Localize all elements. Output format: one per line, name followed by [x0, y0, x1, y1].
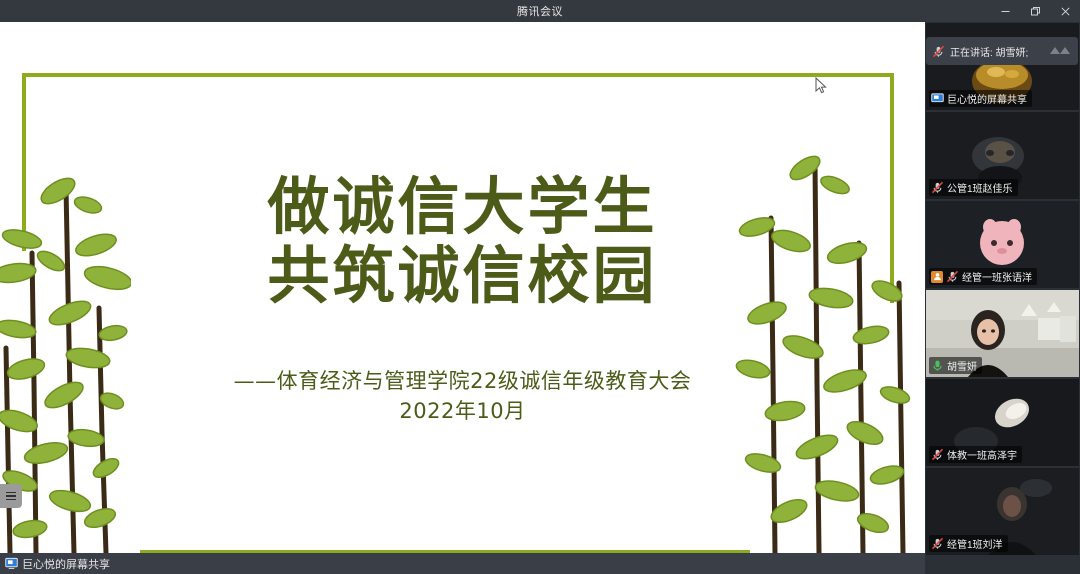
host-badge [931, 271, 943, 283]
window-controls [990, 0, 1080, 22]
shared-screen-stage: 做诚信大学生 共筑诚信校园 ——体育经济与管理学院22级诚信年级教育大会 202… [0, 22, 925, 553]
minimize-icon[interactable] [990, 0, 1020, 22]
presentation-slide: 做诚信大学生 共筑诚信校园 ——体育经济与管理学院22级诚信年级教育大会 202… [0, 22, 925, 553]
slide-subtitle: ——体育经济与管理学院22级诚信年级教育大会 2022年10月 [0, 366, 925, 427]
participant-tile[interactable]: 经管1班刘洋 [926, 468, 1079, 555]
participant-nameplate: 经管一班张语洋 [929, 268, 1037, 285]
participant-tile[interactable]: 公管1班赵佳乐 [926, 112, 1079, 199]
participant-strip[interactable]: 巨心悦的屏幕共享 公管1班赵佳乐 [925, 22, 1080, 574]
slide-title-line2: 共筑诚信校园 [0, 241, 925, 310]
mic-muted-icon [931, 181, 944, 194]
close-icon[interactable] [1050, 0, 1080, 22]
mic-muted-icon [946, 270, 959, 283]
participant-tile-active-speaker[interactable]: 胡雪妍 [926, 290, 1079, 377]
participant-name: 体教一班高泽宇 [947, 447, 1017, 462]
mouse-cursor-icon [815, 77, 827, 95]
mic-muted-icon [932, 45, 945, 58]
mic-muted-icon [931, 448, 944, 461]
participant-name: 公管1班赵佳乐 [947, 180, 1013, 195]
speaking-toast: 正在讲话: 胡雪妍; [926, 37, 1078, 65]
frame-line-top [22, 73, 894, 77]
screen-share-label: 巨心悦的屏幕共享 [22, 556, 110, 572]
participant-name: 经管一班张语洋 [962, 269, 1032, 284]
restore-icon[interactable] [1020, 0, 1050, 22]
mic-active-icon [931, 359, 944, 372]
slide-title-line1: 做诚信大学生 [0, 172, 925, 241]
window-title: 腾讯会议 [517, 3, 563, 19]
person-icon [933, 272, 942, 281]
mic-muted-icon [931, 537, 944, 550]
tencent-meeting-window: 腾讯会议 [0, 0, 1080, 574]
slide-subtitle-line1: ——体育经济与管理学院22级诚信年级教育大会 [0, 366, 925, 396]
menu-lines-icon [6, 490, 16, 503]
slide-subtitle-line2: 2022年10月 [0, 396, 925, 426]
audio-wave-icon [1048, 44, 1072, 58]
participant-tile[interactable]: 经管一班张语洋 [926, 201, 1079, 288]
participant-nameplate: 体教一班高泽宇 [929, 446, 1022, 463]
screen-share-icon [931, 92, 944, 105]
participant-nameplate: 巨心悦的屏幕共享 [929, 90, 1032, 107]
participant-name: 经管1班刘洋 [947, 536, 1003, 551]
participant-name: 巨心悦的屏幕共享 [947, 91, 1027, 106]
collapse-panel-handle[interactable] [0, 484, 22, 508]
screen-share-statusbar: 巨心悦的屏幕共享 [0, 553, 925, 574]
participant-tile[interactable]: 体教一班高泽宇 [926, 379, 1079, 466]
screen-share-icon [5, 557, 18, 570]
title-bar: 腾讯会议 [0, 0, 1080, 22]
participant-nameplate: 经管1班刘洋 [929, 535, 1008, 552]
speaking-toast-label: 正在讲话: 胡雪妍; [950, 44, 1028, 59]
slide-title: 做诚信大学生 共筑诚信校园 [0, 172, 925, 311]
participant-nameplate: 公管1班赵佳乐 [929, 179, 1018, 196]
participant-name: 胡雪妍 [947, 358, 977, 373]
participant-nameplate: 胡雪妍 [929, 357, 982, 374]
